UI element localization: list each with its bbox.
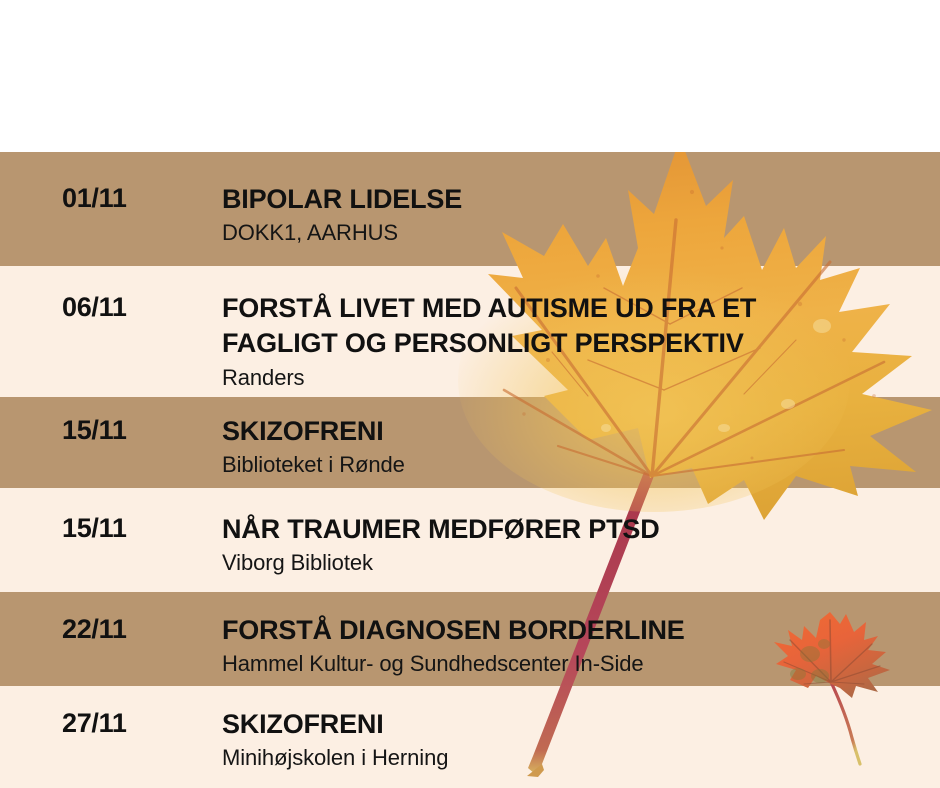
title-bar bbox=[0, 0, 940, 152]
event-row-band bbox=[0, 266, 940, 397]
event-row-band bbox=[0, 592, 940, 686]
event-row-band bbox=[0, 152, 940, 266]
poster-canvas: Temaaftener i november 01/11 BIPOLAR LID… bbox=[0, 0, 940, 788]
event-row-band bbox=[0, 686, 940, 788]
event-list bbox=[0, 152, 940, 788]
event-row-band bbox=[0, 397, 940, 488]
event-row-band bbox=[0, 488, 940, 592]
